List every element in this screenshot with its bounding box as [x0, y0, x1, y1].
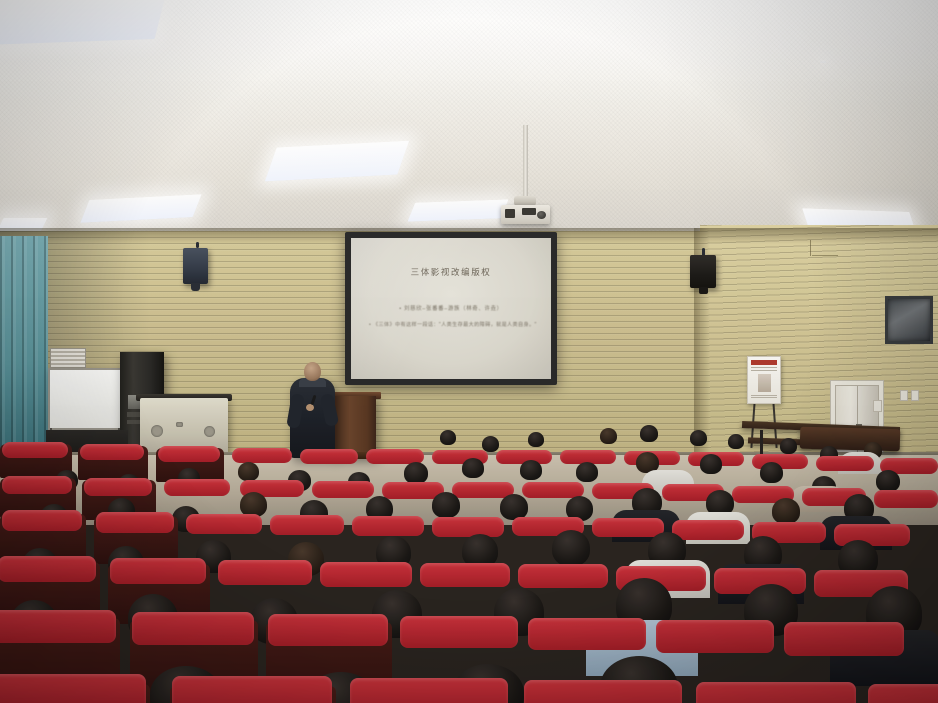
audience-head: [728, 434, 744, 449]
seat-back: [84, 478, 152, 496]
poster-text-line: [751, 370, 777, 371]
seat-back: [524, 680, 682, 703]
right-speaker-base: [699, 287, 708, 294]
audience-head: [760, 462, 783, 483]
console-knob: [204, 426, 215, 437]
seat-back: [80, 444, 144, 460]
seat-back: [696, 682, 856, 703]
poster-text-line: [751, 367, 777, 368]
seat-back: [0, 556, 96, 582]
projection-screen: 三体影视改编版权 • 刘慈欣–张番番–游族（林奇、许垚） • 《三体》中有这样一…: [345, 232, 557, 385]
audience-head: [772, 498, 800, 524]
poster-board: [747, 356, 781, 404]
slide-bullet-2: • 《三体》中有这样一段话："人类生存最大的障碍，就是人类自身。": [363, 322, 539, 330]
seat-back: [592, 518, 664, 537]
seat-back: [784, 622, 904, 656]
seat-back: [874, 490, 938, 508]
audience-head: [690, 430, 707, 446]
audience-head: [640, 425, 658, 442]
seat-back: [350, 678, 508, 703]
seat-back: [132, 612, 254, 645]
slide-content: 三体影视改编版权 • 刘慈欣–张番番–游族（林奇、许垚） • 《三体》中有这样一…: [351, 238, 551, 379]
seat-back: [270, 515, 344, 535]
audience-head: [600, 428, 617, 444]
ceiling-light-panel: [407, 199, 508, 221]
seat-back: [0, 610, 116, 643]
audience-head: [876, 470, 900, 492]
console-knob: [176, 422, 183, 427]
seat-back: [172, 676, 332, 703]
console-knob: [151, 425, 163, 437]
audience-head: [482, 436, 499, 452]
audience-head: [552, 530, 590, 566]
seat-back: [400, 616, 518, 648]
rear-bench: [800, 427, 901, 452]
slide-bullet-1: • 刘慈欣–张番番–游族（林奇、许垚）: [363, 304, 539, 312]
seat-back: [2, 510, 82, 531]
audience-head: [404, 462, 428, 484]
audience-head: [528, 432, 544, 447]
seat-back: [518, 564, 608, 588]
wall-speaker-left: [183, 248, 208, 284]
seat-back: [232, 448, 292, 463]
lecture-hall-photo: 三体影视改编版权 • 刘慈欣–张番番–游族（林奇、许垚） • 《三体》中有这样一…: [0, 0, 938, 703]
seat-back: [164, 479, 230, 496]
audience-head: [238, 462, 259, 481]
left-speaker-base: [191, 283, 200, 291]
ceiling-conduit: [810, 240, 811, 256]
seat-back: [420, 563, 510, 587]
seat-back: [110, 558, 206, 584]
seat-back: [0, 674, 146, 703]
seat-back: [528, 618, 646, 650]
interior-window: [885, 296, 933, 344]
ceiling-light-panel: [0, 0, 167, 45]
seat-back: [320, 562, 412, 587]
audience-head: [432, 492, 460, 518]
ceiling-light-panel: [820, 60, 826, 63]
light-switch[interactable]: [873, 400, 882, 412]
seat-back: [432, 517, 504, 537]
presenter-head: [304, 362, 321, 381]
table-leg: [760, 430, 763, 456]
wall-outlet[interactable]: [900, 390, 908, 401]
audience-head: [462, 458, 484, 478]
projector-vent: [505, 209, 515, 218]
seat-back: [868, 684, 938, 703]
screen-surface: 三体影视改编版权 • 刘慈欣–张番番–游族（林奇、许垚） • 《三体》中有这样一…: [351, 238, 551, 379]
seat-back: [96, 512, 174, 533]
poster-image: [758, 374, 771, 392]
seat-back: [300, 449, 358, 464]
seat-back: [672, 520, 744, 540]
ceiling-conduit: [812, 255, 838, 256]
audience-head: [576, 462, 598, 482]
wall-speaker-right: [690, 255, 716, 288]
seat-back: [656, 620, 774, 653]
audience-head: [700, 454, 722, 474]
seat-back: [268, 614, 388, 646]
seat-back: [218, 560, 312, 585]
projector-body-detail: [522, 208, 536, 215]
seat-back: [158, 446, 220, 462]
slide-title: 三体影视改编版权: [363, 266, 539, 278]
seat-back: [816, 456, 874, 471]
audience-head: [440, 430, 456, 445]
seat-back: [312, 481, 374, 498]
audience-head: [520, 460, 542, 480]
poster-text-line: [751, 397, 777, 398]
poster-text-line: [751, 395, 777, 396]
projector-mount-pole: [523, 125, 528, 199]
whiteboard: [48, 368, 122, 430]
seat-back: [2, 442, 68, 458]
stage-curtain: [0, 236, 48, 468]
wall-outlet[interactable]: [911, 390, 919, 401]
audience-head: [780, 438, 797, 454]
seat-back: [2, 476, 72, 494]
projector-lens: [537, 211, 546, 219]
air-vent: [50, 348, 86, 368]
seat-back: [352, 516, 424, 536]
poster-header-band: [751, 360, 777, 365]
seat-back: [186, 514, 262, 534]
